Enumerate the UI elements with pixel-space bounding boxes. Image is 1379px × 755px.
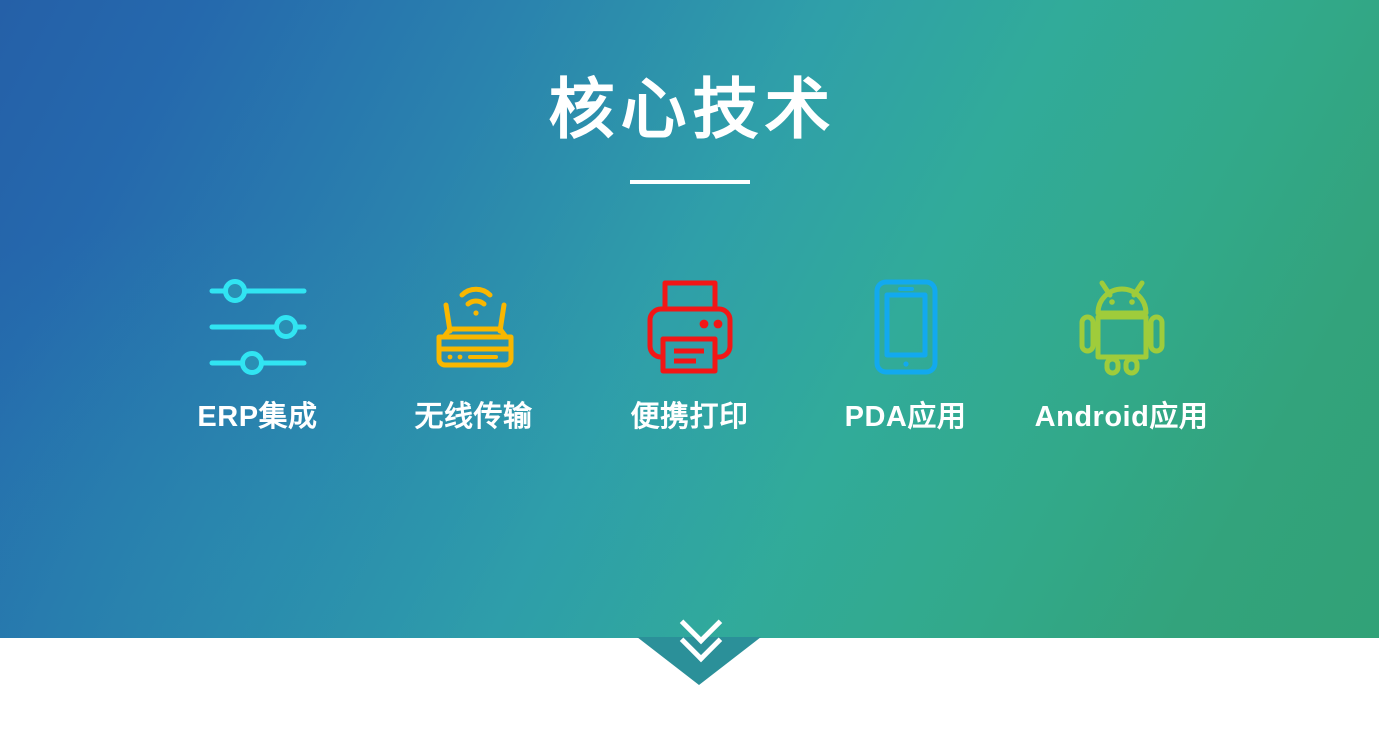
tablet-device-icon xyxy=(847,268,965,386)
feature-label: 便携打印 xyxy=(630,402,748,434)
feature-list: ERP集成 xyxy=(0,268,1379,434)
feature-label: 无线传输 xyxy=(414,402,532,434)
page-root: 核心技术 ERP集成 xyxy=(0,0,1379,755)
feature-item-android[interactable]: Android应用 xyxy=(1014,268,1230,434)
feature-label: ERP集成 xyxy=(197,402,317,434)
feature-label: Android应用 xyxy=(1035,402,1209,434)
title-underline-divider xyxy=(630,180,750,184)
page-title: 核心技术 xyxy=(0,76,1379,142)
android-robot-icon xyxy=(1063,268,1181,386)
feature-item-erp[interactable]: ERP集成 xyxy=(150,268,366,434)
printer-icon xyxy=(631,268,749,386)
wifi-router-icon xyxy=(415,268,533,386)
feature-item-printer[interactable]: 便携打印 xyxy=(582,268,798,434)
scroll-down-pointer[interactable] xyxy=(637,637,762,685)
feature-label: PDA应用 xyxy=(845,402,967,434)
feature-item-wireless[interactable]: 无线传输 xyxy=(366,268,582,434)
sliders-icon xyxy=(199,268,317,386)
hero-header: 核心技术 xyxy=(0,0,1379,184)
double-chevron-down-icon xyxy=(637,608,762,649)
feature-item-pda[interactable]: PDA应用 xyxy=(798,268,1014,434)
chevron-down-icon xyxy=(677,626,723,649)
